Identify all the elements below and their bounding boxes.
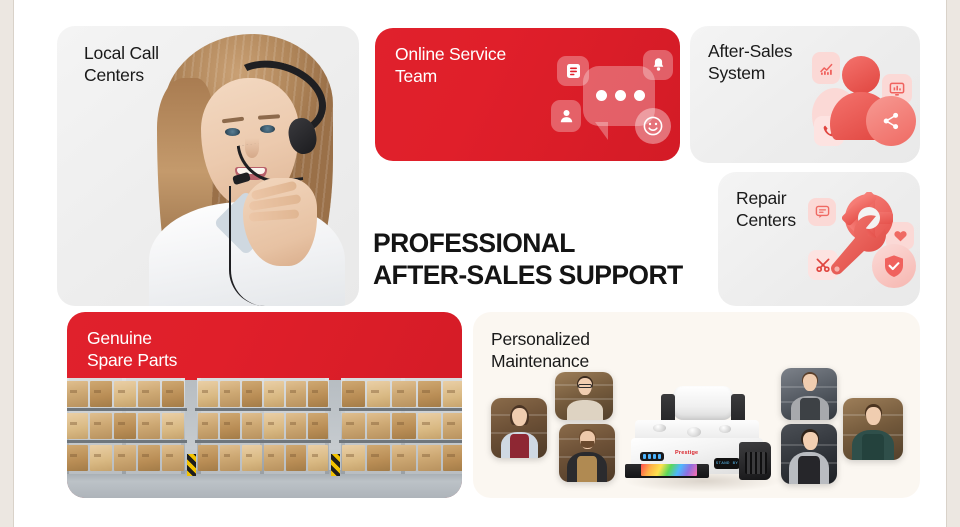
warehouse-rack <box>67 378 185 474</box>
chat-bubble-tail <box>595 122 608 140</box>
card-repair-centers[interactable]: Repair Centers <box>718 172 920 306</box>
printer-knob <box>687 427 701 437</box>
printer-status-screen: STAND BY <box>714 458 740 469</box>
agent-eye-left <box>225 128 240 136</box>
portrait-technician[interactable] <box>555 372 613 420</box>
repair-icon-cluster <box>808 186 916 298</box>
printer-screen-text: STAND BY <box>716 462 738 466</box>
floor-hazard-marker <box>187 454 196 476</box>
printer-vents <box>745 452 767 474</box>
printer-media-roll <box>673 386 733 420</box>
printer-knob <box>719 425 731 433</box>
after-sales-icon-cluster <box>806 44 916 154</box>
chart-icon <box>812 52 840 84</box>
card-after-sales-system[interactable]: After-Sales System <box>690 26 920 163</box>
card-title-genuine-spare-parts: Genuine Spare Parts <box>87 327 177 372</box>
warehouse-floor <box>67 470 462 498</box>
typing-dot <box>634 90 645 101</box>
slide-canvas: Local Call Centers Online Service Team <box>15 0 945 527</box>
card-online-service-team[interactable]: Online Service Team <box>375 28 680 161</box>
printer-led <box>648 454 651 459</box>
page-headline: PROFESSIONAL AFTER-SALES SUPPORT <box>373 228 703 292</box>
call-center-agent-photo <box>127 26 359 306</box>
typing-dot <box>596 90 607 101</box>
floor-hazard-marker <box>331 454 340 476</box>
document-icon <box>557 56 589 86</box>
printer-brand-logo: Prestige <box>675 450 698 456</box>
card-title-online-service-team: Online Service Team <box>395 43 506 88</box>
user-head-icon <box>842 56 880 94</box>
card-title-personalized-maintenance: Personalized Maintenance <box>491 328 590 373</box>
portrait-technician[interactable] <box>559 424 615 482</box>
card-title-repair-centers: Repair Centers <box>736 187 796 232</box>
typing-dot <box>615 90 626 101</box>
card-genuine-spare-parts[interactable]: Genuine Spare Parts <box>67 312 462 498</box>
printer-led <box>653 454 656 459</box>
portrait-technician[interactable] <box>843 398 903 460</box>
warehouse-rack <box>341 378 462 474</box>
online-service-icon-cluster <box>543 50 673 146</box>
user-icon <box>551 100 581 132</box>
portrait-technician[interactable] <box>491 398 547 458</box>
card-local-call-centers[interactable]: Local Call Centers <box>57 26 359 306</box>
typing-dots <box>596 90 645 101</box>
warehouse-photo <box>67 380 462 498</box>
page-edge-right <box>946 0 960 527</box>
card-title-local-call-centers: Local Call Centers <box>84 42 159 87</box>
warehouse-rack <box>197 378 329 474</box>
printer-knob <box>653 424 666 432</box>
smiley-icon <box>635 108 671 144</box>
portrait-technician[interactable] <box>781 424 837 484</box>
share-icon <box>866 96 916 146</box>
page-edge-left <box>0 0 14 527</box>
bell-icon <box>643 50 673 80</box>
printer-led <box>643 454 646 459</box>
printer-led <box>658 454 661 459</box>
printer-product-photo: Prestige STAND BY <box>623 384 783 488</box>
printed-sample <box>641 464 697 476</box>
shield-check-icon <box>872 244 916 288</box>
portrait-technician[interactable] <box>781 368 837 420</box>
card-title-after-sales-system: After-Sales System <box>708 40 792 85</box>
printer-control-panel[interactable] <box>640 452 664 461</box>
card-personalized-maintenance[interactable]: Personalized Maintenance <box>473 312 920 498</box>
